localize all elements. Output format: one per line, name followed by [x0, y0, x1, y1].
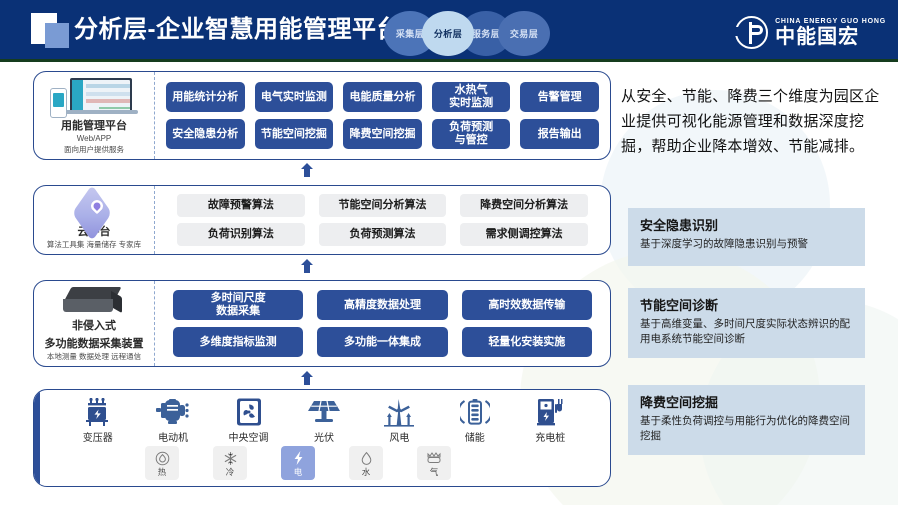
- tag-item[interactable]: 电气实时监测: [255, 82, 334, 112]
- highlight-card-title: 降费空间挖掘: [640, 394, 853, 412]
- guohong-mark-icon: [735, 16, 768, 49]
- tag-item[interactable]: 多时间尺度数据采集: [173, 290, 303, 320]
- highlight-card-cost-reduction: 降费空间挖掘 基于柔性负荷调控与用能行为优化的降费空间挖掘: [628, 385, 865, 455]
- panel-devices-accent-bar: [33, 389, 40, 487]
- energy-slot: 冷: [196, 446, 264, 480]
- page-title: 分析层-企业智慧用能管理平台: [74, 12, 401, 48]
- heat-icon: [155, 450, 170, 467]
- device-label: 充电桩: [535, 429, 565, 444]
- panel-platform-identity: 用能管理平台 Web/APP 面向用户提供服务: [34, 72, 155, 159]
- slide-header: 分析层-企业智慧用能管理平台 采集层 服务层 交易层 分析层 CHINA ENE…: [0, 0, 898, 62]
- panel-device: 非侵入式 多功能数据采集装置 本地测量 数据处理 远程通信 多时间尺度数据采集 …: [33, 280, 611, 367]
- device-label: 储能: [465, 429, 485, 444]
- device-item-storage[interactable]: 储能: [441, 396, 509, 444]
- intro-paragraph: 从安全、节能、降费三个维度为园区企业提供可视化能源管理和数据深度挖掘，帮助企业降…: [621, 84, 884, 159]
- energy-tile-water[interactable]: 水: [349, 446, 383, 480]
- layer-ellipse-analysis-active[interactable]: 分析层: [422, 11, 474, 56]
- energy-slot: 电: [264, 446, 332, 480]
- energy-tile-gas[interactable]: 气: [417, 446, 451, 480]
- tag-item[interactable]: 负荷预测算法: [319, 223, 447, 246]
- energy-slot: 气: [400, 446, 468, 480]
- tag-item[interactable]: 告警管理: [520, 82, 599, 112]
- panel-device-sub1: 多功能数据采集装置: [45, 337, 144, 351]
- highlight-card-safety: 安全隐患识别 基于深度学习的故障隐患识别与预警: [628, 208, 865, 266]
- panel-cloud-identity: 云平台 算法工具集 海量储存 专家库: [34, 186, 155, 254]
- tag-item[interactable]: 节能空间分析算法: [319, 194, 447, 217]
- device-item-central-ac[interactable]: 中央空调: [215, 396, 283, 444]
- panel-device-tags: 多时间尺度数据采集 高精度数据处理 高时效数据传输 多维度指标监测 多功能一体集…: [155, 281, 610, 366]
- device-item-transformer[interactable]: 变压器: [64, 396, 132, 444]
- layer-ellipse-trading[interactable]: 交易层: [498, 11, 550, 56]
- charging-pile-icon: [536, 396, 564, 427]
- energy-label: 冷: [226, 467, 235, 477]
- energy-label: 电: [294, 467, 303, 477]
- tag-item[interactable]: 需求侧调控算法: [460, 223, 588, 246]
- data-collector-box-icon: [61, 285, 127, 315]
- tag-item[interactable]: 水热气实时监测: [432, 82, 511, 112]
- panel-platform-sub1: Web/APP: [77, 133, 112, 144]
- flow-arrow-up-2: [300, 259, 314, 273]
- gas-icon: [426, 450, 442, 467]
- tag-item[interactable]: 降费空间分析算法: [460, 194, 588, 217]
- water-drop-icon: [359, 450, 374, 467]
- device-label: 光伏: [314, 429, 334, 444]
- highlight-card-desc: 基于柔性负荷调控与用能行为优化的降费空间挖掘: [640, 414, 853, 444]
- energy-label: 气: [430, 467, 439, 477]
- flow-arrow-up-3: [300, 371, 314, 385]
- tag-item[interactable]: 报告输出: [520, 119, 599, 149]
- tag-item[interactable]: 负荷预测与管控: [432, 119, 511, 149]
- energy-type-list: 热 冷 电: [34, 444, 610, 486]
- panel-platform: 用能管理平台 Web/APP 面向用户提供服务 用能统计分析 电气实时监测 电能…: [33, 71, 611, 160]
- device-label: 电动机: [158, 429, 188, 444]
- highlight-card-energy-saving: 节能空间诊断 基于高维变量、多时间尺度实际状态辨识的配用电系统节能空间诊断: [628, 288, 865, 358]
- motor-icon: [156, 396, 190, 427]
- device-item-wind[interactable]: 风电: [365, 396, 433, 444]
- panel-cloud: 云平台 算法工具集 海量储存 专家库 故障预警算法 节能空间分析算法 降费空间分…: [33, 185, 611, 255]
- tag-item[interactable]: 负荷识别算法: [177, 223, 305, 246]
- tag-item[interactable]: 用能统计分析: [166, 82, 245, 112]
- energy-tile-heat[interactable]: 热: [145, 446, 179, 480]
- energy-label: 热: [158, 467, 167, 477]
- highlight-card-title: 节能空间诊断: [640, 297, 853, 315]
- logo-square-front-icon: [45, 23, 69, 48]
- device-label: 变压器: [83, 429, 113, 444]
- solar-panel-icon: [306, 396, 342, 427]
- electricity-bolt-icon: [291, 450, 306, 467]
- highlight-card-desc: 基于高维变量、多时间尺度实际状态辨识的配用电系统节能空间诊断: [640, 317, 853, 347]
- central-air-conditioner-icon: [236, 396, 262, 427]
- panel-device-sub2: 本地测量 数据处理 远程通信: [47, 351, 141, 362]
- panel-device-title: 非侵入式: [72, 319, 116, 333]
- panel-platform-title: 用能管理平台: [61, 119, 127, 133]
- company-logo: CHINA ENERGY GUO HONG 中能国宏: [735, 13, 886, 51]
- tag-item[interactable]: 安全隐患分析: [166, 119, 245, 149]
- logo-chinese-name: 中能国宏: [775, 27, 886, 47]
- header-underline: [0, 59, 898, 62]
- layer-label: 采集层: [396, 27, 424, 40]
- tag-item[interactable]: 高时效数据传输: [462, 290, 592, 320]
- highlight-card-desc: 基于深度学习的故障隐患识别与预警: [640, 237, 853, 252]
- panel-device-identity: 非侵入式 多功能数据采集装置 本地测量 数据处理 远程通信: [34, 281, 155, 366]
- laptop-phone-dashboard-icon: [48, 76, 140, 115]
- device-label: 中央空调: [229, 429, 269, 444]
- logo-english-name: CHINA ENERGY GUO HONG: [775, 18, 886, 25]
- cloud-cube-icon: [66, 190, 122, 221]
- panel-devices: 变压器: [33, 389, 611, 487]
- energy-label: 水: [362, 467, 371, 477]
- device-label: 风电: [389, 429, 409, 444]
- energy-slot: 热: [128, 446, 196, 480]
- layer-label: 分析层: [434, 27, 462, 40]
- tag-item[interactable]: 轻量化安装实施: [462, 327, 592, 357]
- flow-arrow-up-1: [300, 163, 314, 177]
- slide-canvas: 分析层-企业智慧用能管理平台 采集层 服务层 交易层 分析层 CHINA ENE…: [0, 0, 898, 505]
- cold-snowflake-icon: [223, 450, 238, 467]
- tag-item[interactable]: 多维度指标监测: [173, 327, 303, 357]
- energy-slot: 水: [332, 446, 400, 480]
- panel-cloud-sub1: 算法工具集 海量储存 专家库: [47, 239, 141, 250]
- tag-item[interactable]: 节能空间挖掘: [255, 119, 334, 149]
- energy-slot: [60, 446, 128, 480]
- layer-label: 服务层: [472, 27, 500, 40]
- tag-item[interactable]: 降费空间挖掘: [343, 119, 422, 149]
- energy-tile-cold[interactable]: 冷: [213, 446, 247, 480]
- tag-item[interactable]: 电能质量分析: [343, 82, 422, 112]
- tag-item[interactable]: 多功能一体集成: [317, 327, 447, 357]
- tag-item[interactable]: 高精度数据处理: [317, 290, 447, 320]
- wind-turbine-icon: [382, 396, 416, 427]
- device-item-solar[interactable]: 光伏: [290, 396, 358, 444]
- device-item-motor[interactable]: 电动机: [139, 396, 207, 444]
- transformer-icon: [85, 396, 111, 427]
- battery-storage-icon: [460, 396, 490, 427]
- device-item-charging-pile[interactable]: 充电桩: [516, 396, 584, 444]
- highlight-card-title: 安全隐患识别: [640, 217, 853, 235]
- energy-tile-electricity[interactable]: 电: [281, 446, 315, 480]
- panel-platform-sub2: 面向用户提供服务: [64, 144, 124, 155]
- layer-label: 交易层: [510, 27, 538, 40]
- panel-platform-tags: 用能统计分析 电气实时监测 电能质量分析 水热气实时监测 告警管理 安全隐患分析…: [155, 72, 610, 159]
- device-list: 变压器: [34, 390, 610, 444]
- energy-slot: [468, 446, 536, 480]
- panel-cloud-tags: 故障预警算法 节能空间分析算法 降费空间分析算法 负荷识别算法 负荷预测算法 需…: [155, 186, 610, 254]
- tag-item[interactable]: 故障预警算法: [177, 194, 305, 217]
